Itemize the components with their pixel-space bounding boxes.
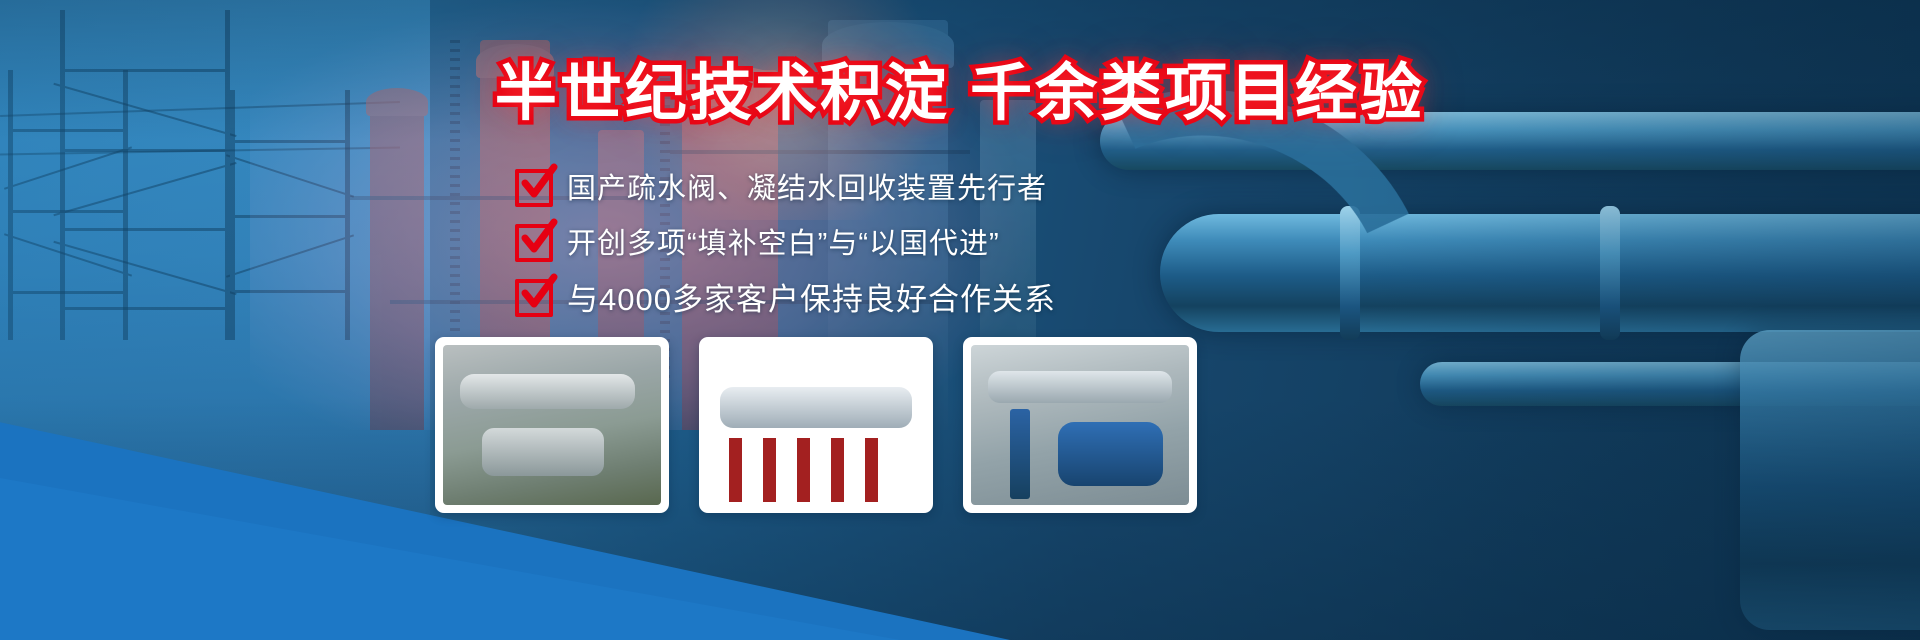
photo-card: [435, 337, 669, 513]
list-item: 与4000多家客户保持良好合作关系: [515, 270, 1155, 322]
banner-headline: 半世纪技术积淀 千余类项目经验: [0, 42, 1920, 132]
product-photo-image: [707, 345, 925, 505]
checkbox-checked-icon: [515, 279, 549, 313]
photo-card: [699, 337, 933, 513]
list-item-label: 开创多项“填补空白”与“以国代进”: [567, 220, 1000, 262]
product-photo-image: [443, 345, 661, 505]
promo-banner: 半世纪技术积淀 千余类项目经验 国产疏水阀、凝结水回收装置先行者: [0, 0, 1920, 640]
product-photo-image: [971, 345, 1189, 505]
banner-content: 半世纪技术积淀 千余类项目经验 国产疏水阀、凝结水回收装置先行者: [0, 0, 1920, 640]
checkbox-checked-icon: [515, 169, 549, 203]
checkbox-checked-icon: [515, 224, 549, 258]
product-photo-gallery: [435, 337, 1197, 513]
feature-list: 国产疏水阀、凝结水回收装置先行者 开创多项“填补空白”与“以国代进”: [515, 160, 1155, 325]
list-item-label: 国产疏水阀、凝结水回收装置先行者: [567, 165, 1047, 207]
photo-card: [963, 337, 1197, 513]
list-item: 开创多项“填补空白”与“以国代进”: [515, 215, 1155, 267]
list-item: 国产疏水阀、凝结水回收装置先行者: [515, 160, 1155, 212]
list-item-label: 与4000多家客户保持良好合作关系: [567, 274, 1056, 319]
